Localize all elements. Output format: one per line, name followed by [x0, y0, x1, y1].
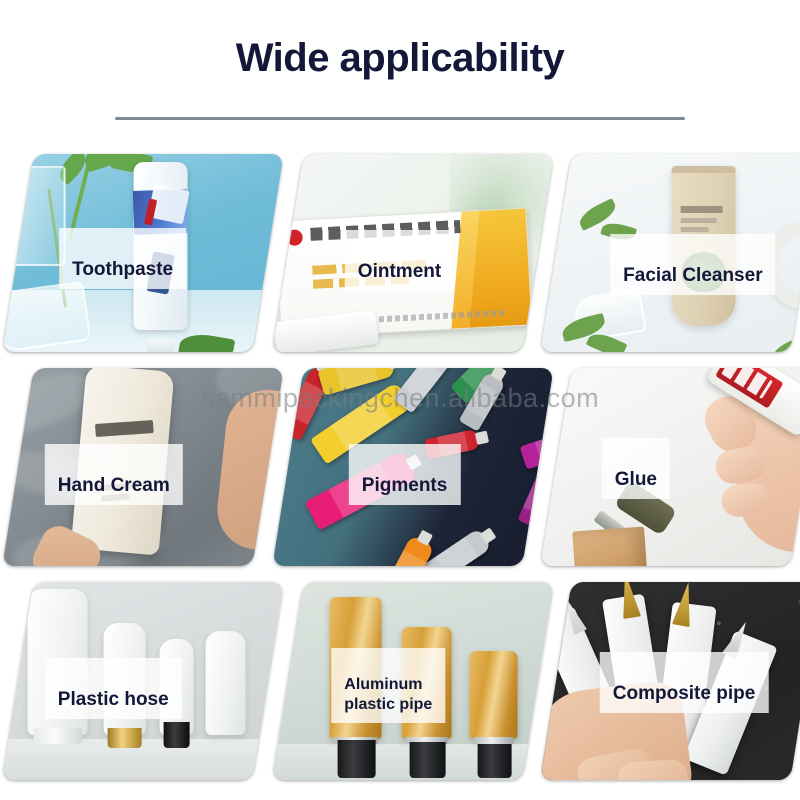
applications-row-2: Hand Cream: [0, 368, 800, 566]
card-facial-cleanser[interactable]: Facial Cleanser: [540, 154, 800, 352]
card-ointment[interactable]: Ointment: [272, 154, 553, 352]
card-facial-cleanser-label: Facial Cleanser: [610, 234, 775, 295]
card-glue-image: [540, 368, 800, 566]
card-ointment-label: Ointment: [345, 230, 454, 291]
card-hand-cream-label: Hand Cream: [45, 444, 183, 505]
card-toothpaste-label: Toothpaste: [59, 228, 186, 289]
card-toothpaste[interactable]: Toothpaste: [2, 154, 283, 352]
title-divider: [115, 117, 685, 120]
card-plastic-hose[interactable]: Plastic hose: [2, 582, 283, 780]
card-hand-cream[interactable]: Hand Cream: [2, 368, 283, 566]
card-plastic-hose-label: Plastic hose: [45, 658, 182, 719]
page-title: Wide applicability: [0, 32, 800, 84]
card-aluminum-plastic-pipe[interactable]: Aluminum plastic pipe: [272, 582, 553, 780]
wide-applicability-page: Wide applicability: [0, 0, 800, 800]
card-glue[interactable]: Glue: [540, 368, 800, 566]
applications-grid: Toothpaste: [0, 150, 800, 800]
card-glue-label: Glue: [602, 438, 670, 499]
card-aluminum-plastic-pipe-label: Aluminum plastic pipe: [331, 648, 445, 723]
card-pigments[interactable]: Pigments: [272, 368, 553, 566]
page-header: Wide applicability: [0, 0, 800, 140]
applications-row-3: Plastic hose: [0, 582, 800, 780]
applications-row-1: Toothpaste: [0, 154, 800, 352]
card-composite-pipe-label: Composite pipe: [600, 652, 769, 713]
card-composite-pipe[interactable]: Composite pipe: [540, 582, 800, 780]
card-pigments-label: Pigments: [349, 444, 461, 505]
